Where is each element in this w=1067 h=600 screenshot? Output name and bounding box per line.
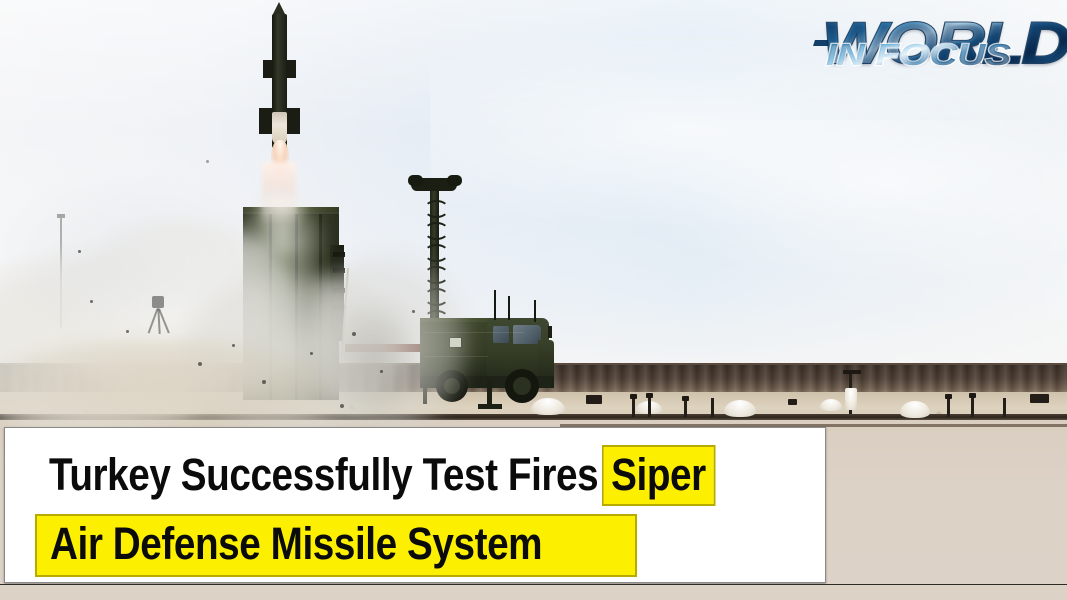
debris-speck [412, 310, 415, 313]
truck-outrigger-foot [478, 404, 502, 409]
canister-rib [269, 214, 272, 400]
truck-side-window [493, 326, 509, 343]
headline-line-2-highlight: Air Defense Missile System [35, 514, 637, 577]
truck-wheel [436, 370, 468, 402]
camera-tripod-head [152, 296, 164, 308]
truck-wheel [505, 369, 539, 403]
ground-stake-head [945, 394, 952, 399]
truck-door-plate [449, 337, 462, 348]
ground-stake [711, 398, 714, 417]
channel-logo[interactable]: WORLD WORLD IN FOCUS IN FOCUS [812, 10, 1060, 90]
sandbag [900, 401, 930, 418]
mast-coil [424, 200, 449, 218]
canister-lug [333, 268, 345, 273]
missile-fin [286, 60, 296, 78]
mast-sensor-pod [447, 175, 462, 186]
equipment-crate [586, 395, 602, 404]
sandbag [820, 399, 842, 411]
equipment-crate [1030, 394, 1049, 403]
truck-antenna [508, 296, 510, 320]
mast-coil [424, 288, 449, 306]
truck-panel-line [424, 356, 488, 357]
truck-panel-line [424, 332, 524, 333]
ground-stake [632, 397, 635, 417]
truck-mirror [548, 326, 552, 338]
debris-speck [310, 352, 313, 355]
debris-speck [232, 344, 235, 347]
bottom-band [0, 584, 1067, 600]
sandbag [845, 388, 857, 410]
equipment-crate [788, 399, 797, 405]
screenshot-root: WORLD WORLD IN FOCUS IN FOCUS Turkey Suc… [0, 0, 1067, 600]
logo-overlay-in-focus: IN FOCUS [826, 38, 1011, 71]
canister-lug [333, 288, 345, 293]
truck-outrigger [423, 382, 427, 404]
ground-stake-head [843, 370, 861, 374]
antenna-pole [60, 218, 62, 328]
debris-speck [198, 362, 202, 366]
sandbag [531, 398, 565, 415]
missile-fin [263, 60, 273, 78]
mast-sensor-pod [408, 175, 423, 186]
ground-stake [947, 397, 950, 417]
truck-antenna [494, 290, 496, 320]
headline-line-2: Air Defense Missile System [50, 519, 542, 569]
headline-highlight-siper: Siper [603, 447, 713, 504]
canister-rib [295, 214, 298, 400]
debris-speck [126, 330, 129, 333]
missile-exhaust-trail-lower [252, 196, 310, 238]
mast-coil [424, 222, 449, 240]
launcher-canister [243, 212, 339, 400]
debris-speck [262, 380, 266, 384]
truck-outrigger [487, 380, 492, 406]
headline-panel: Turkey Successfully Test FiresSiper Air … [4, 427, 826, 583]
truck-windshield [513, 325, 541, 344]
missile-fin [259, 108, 273, 134]
sandbag [724, 400, 756, 417]
ground-stake-head [630, 394, 637, 399]
antenna-pole-top [57, 214, 65, 218]
debris-speck [340, 404, 344, 408]
headline-line-1: Turkey Successfully Test FiresSiper [49, 450, 713, 500]
headline-line-1-plain: Turkey Successfully Test Fires [49, 449, 598, 500]
mast-coil [424, 266, 449, 284]
canister-rib [319, 214, 322, 400]
ground-stake [1003, 398, 1006, 417]
debris-speck [380, 370, 383, 373]
ground-stake [648, 396, 651, 417]
mast-coil [424, 244, 449, 262]
cloud-haze-secondary [620, 120, 1067, 280]
truck-antenna [534, 300, 536, 322]
ground-stake-head [646, 393, 653, 398]
debris-speck [206, 160, 209, 163]
ground-stake-head [969, 393, 976, 398]
ground-stake [684, 399, 687, 417]
canister-lug [333, 252, 345, 257]
debris-speck [90, 300, 93, 303]
debris-speck [352, 332, 356, 336]
ground-stake-head [682, 396, 689, 401]
debris-speck [78, 250, 81, 253]
ground-stake [971, 396, 974, 417]
missile-fin [286, 108, 300, 134]
